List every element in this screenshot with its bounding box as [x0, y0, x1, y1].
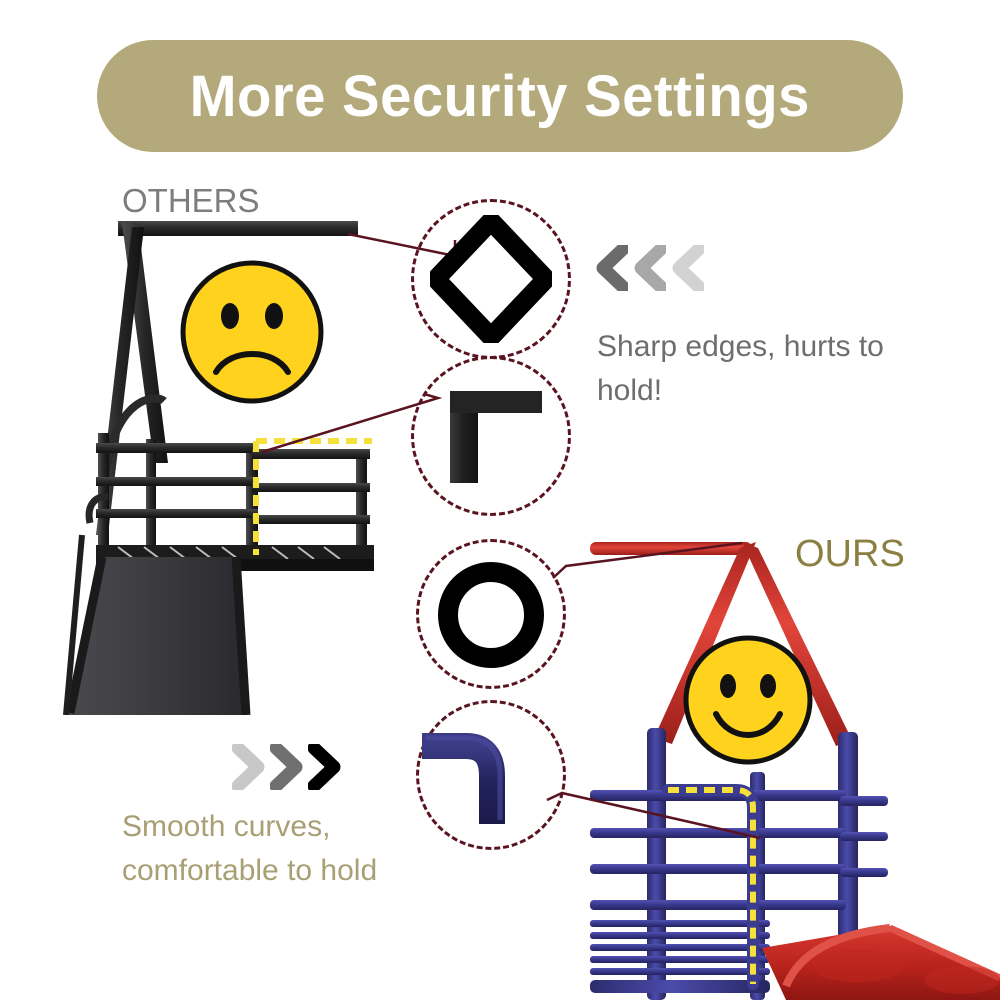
chevron-left-icon-dark — [594, 245, 628, 291]
ours-arrow-group — [232, 744, 346, 790]
sharp-diamond-symbol — [430, 215, 552, 343]
round-circle-symbol — [437, 561, 545, 669]
chevron-right-icon-light — [232, 744, 266, 790]
infographic-page: More Security Settings — [0, 0, 1000, 1000]
chevron-right-icon-dark — [308, 744, 342, 790]
page-title: More Security Settings — [190, 63, 810, 130]
ours-caption: Smooth curves, comfortable to hold — [122, 805, 452, 892]
others-arrow-group — [594, 245, 708, 291]
sharp-corner-joint-photo — [440, 385, 552, 485]
banner-header: More Security Settings — [97, 40, 903, 152]
others-caption: Sharp edges, hurts to hold! — [597, 325, 937, 412]
sad-face-icon — [178, 258, 326, 406]
ours-label: OURS — [795, 533, 905, 576]
others-label: OTHERS — [122, 182, 260, 220]
smiley-face-icon — [682, 634, 814, 766]
chevron-right-icon-medium — [270, 744, 304, 790]
chevron-left-icon-medium — [632, 245, 666, 291]
chevron-left-icon-light — [670, 245, 704, 291]
